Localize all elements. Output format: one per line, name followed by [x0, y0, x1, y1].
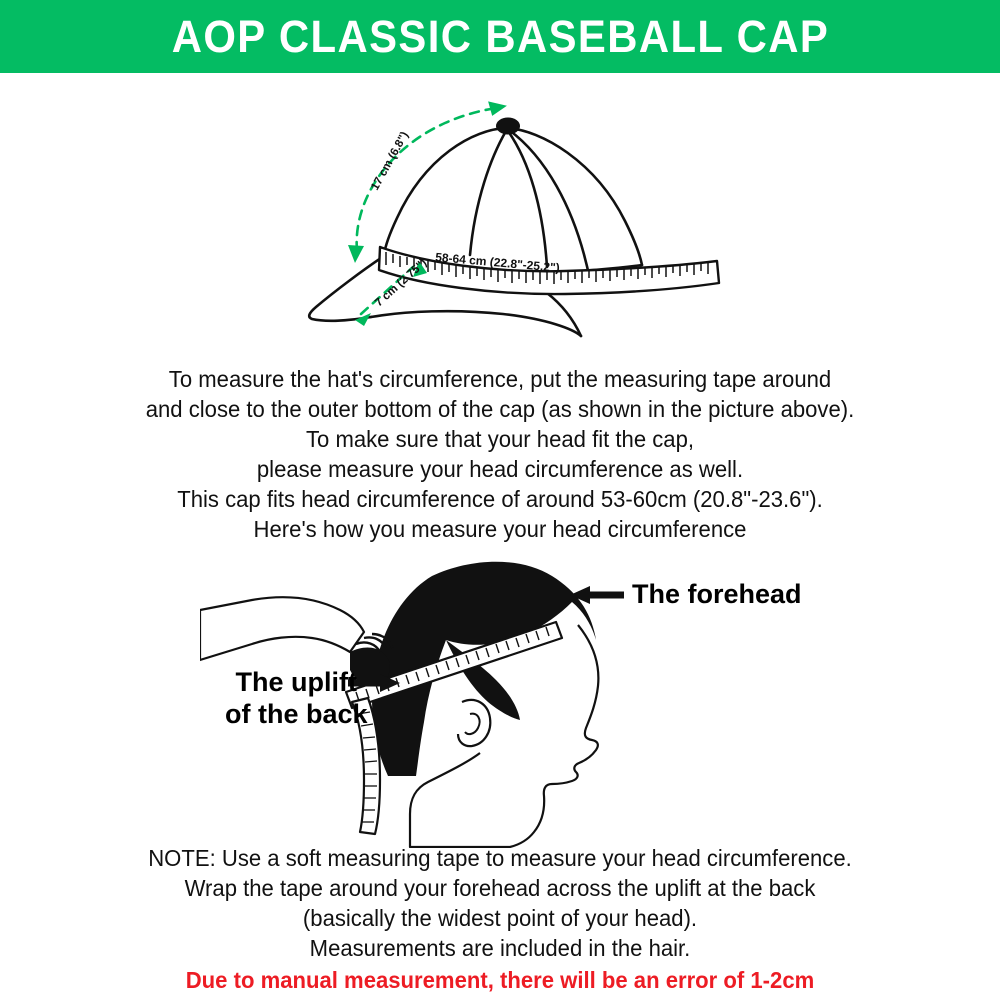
measurement-error-warning: Due to manual measurement, there will be…	[77, 965, 923, 995]
instruction-line: This cap fits head circumference of arou…	[77, 484, 923, 514]
note-line: (basically the widest point of your head…	[77, 903, 923, 933]
crown-height-label: 17 cm (6.8")	[369, 130, 411, 193]
instructions-block: To measure the hat's circumference, put …	[77, 364, 923, 544]
note-line: NOTE: Use a soft measuring tape to measu…	[77, 843, 923, 873]
uplift-label-line-2: of the back	[225, 698, 368, 730]
note-line: Wrap the tape around your forehead acros…	[77, 873, 923, 903]
cap-measurement-diagram: 17 cm (6.8") 7 cm (2.75") 58-64 cm (22.8…	[285, 95, 745, 350]
page-title: AOP CLASSIC BASEBALL CAP	[171, 14, 828, 59]
note-block: NOTE: Use a soft measuring tape to measu…	[77, 843, 923, 995]
uplift-label: The uplift of the back	[225, 666, 368, 730]
arrow-head-down-icon	[348, 245, 364, 263]
instruction-line: To make sure that your head fit the cap,	[77, 424, 923, 454]
instruction-line: Here's how you measure your head circumf…	[77, 514, 923, 544]
instruction-line: and close to the outer bottom of the cap…	[77, 394, 923, 424]
size-chart-page: AOP CLASSIC BASEBALL CAP	[0, 0, 1000, 1000]
note-line: Measurements are included in the hair.	[77, 933, 923, 963]
uplift-label-line-1: The uplift	[225, 666, 368, 698]
instruction-line: To measure the hat's circumference, put …	[77, 364, 923, 394]
instruction-line: please measure your head circumference a…	[77, 454, 923, 484]
arrow-head-right-icon	[488, 99, 508, 116]
header-banner: AOP CLASSIC BASEBALL CAP	[0, 0, 1000, 73]
cap-button-icon	[496, 118, 520, 135]
forehead-label: The forehead	[632, 579, 802, 610]
